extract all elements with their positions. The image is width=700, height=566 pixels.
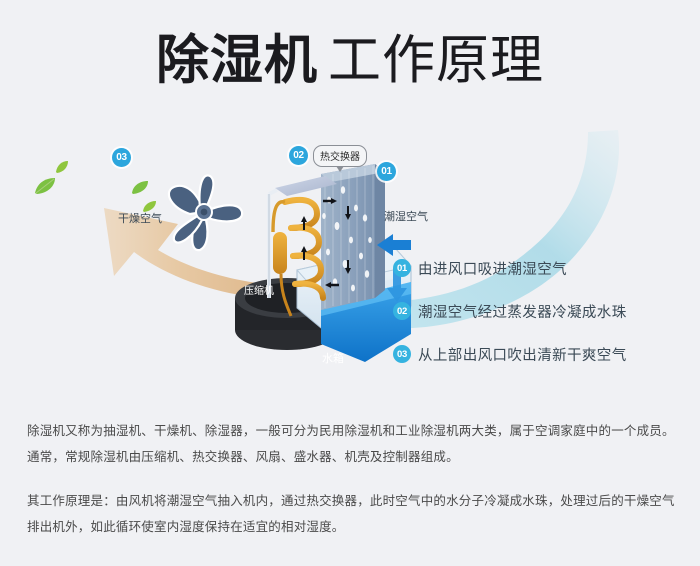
legend-item[interactable]: 02 潮湿空气经过蒸发器冷凝成水珠 <box>393 300 683 322</box>
legend-list: 01 由进风口吸进潮湿空气 02 潮湿空气经过蒸发器冷凝成水珠 03 从上部出风… <box>393 257 683 386</box>
infographic-page: 除湿机工作原理 <box>0 0 700 566</box>
humid-air-label: 潮湿空气 <box>384 208 428 224</box>
legend-text: 潮湿空气经过蒸发器冷凝成水珠 <box>418 301 627 322</box>
page-title: 除湿机工作原理 <box>0 34 700 87</box>
legend-badge: 02 <box>393 302 411 320</box>
legend-item[interactable]: 03 从上部出风口吹出清新干爽空气 <box>393 343 683 365</box>
body-paragraph-2: 其工作原理是：由风机将潮湿空气抽入机内，通过热交换器，此时空气中的水分子冷凝成水… <box>27 488 677 540</box>
legend-text: 从上部出风口吹出清新干爽空气 <box>418 344 627 365</box>
page-title-bold: 除湿机 <box>156 31 318 90</box>
legend-text: 由进风口吸进潮湿空气 <box>418 258 567 279</box>
heat-exchanger-callout: 热交换器 <box>313 145 367 167</box>
humid-air-badge: 01 <box>377 162 396 181</box>
compressor-label: 压缩机 <box>244 282 274 297</box>
body-paragraph-1: 除湿机又称为抽湿机、干燥机、除湿器，一般可分为民用除湿机和工业除湿机两大类，属于… <box>27 418 677 470</box>
legend-badge: 03 <box>393 345 411 363</box>
page-title-light: 工作原理 <box>328 31 544 90</box>
leaf-icon <box>34 177 56 195</box>
dry-air-badge: 03 <box>112 148 131 167</box>
body-copy: 除湿机又称为抽湿机、干燥机、除湿器，一般可分为民用除湿机和工业除湿机两大类，属于… <box>27 418 677 540</box>
legend-item[interactable]: 01 由进风口吸进潮湿空气 <box>393 257 683 279</box>
legend-badge: 01 <box>393 259 411 277</box>
dehumidifier-machine <box>225 148 415 398</box>
dry-air-label: 干燥空气 <box>118 210 162 226</box>
leaf-icon <box>131 180 149 195</box>
water-tank-label: 水箱 <box>322 350 344 366</box>
leaf-icon <box>55 160 69 174</box>
heat-exchanger-badge: 02 <box>289 146 308 165</box>
